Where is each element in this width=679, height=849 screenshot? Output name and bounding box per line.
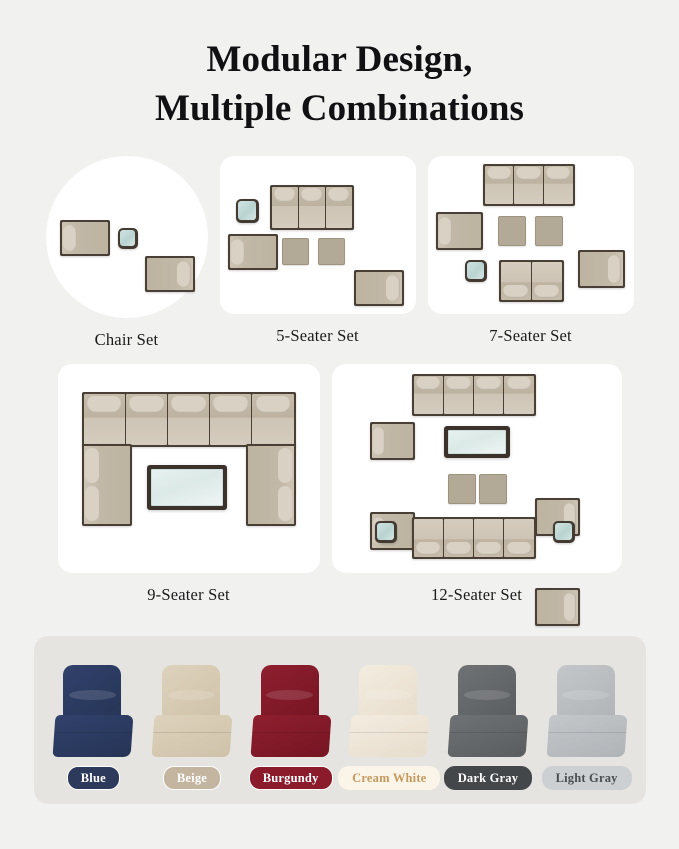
config-label: 9-Seater Set [147,585,230,605]
cushion-seat [152,715,233,757]
cushion-seat [250,715,331,757]
cushion-seat [53,715,134,757]
coffee-table-icon [147,465,227,510]
cushion-illustration [252,665,330,757]
cushion-back [261,665,319,721]
color-label-dark-gray: Dark Gray [444,766,532,790]
12-seater-set-diagram [332,364,622,573]
color-label-burgundy: Burgundy [249,766,333,790]
chair-icon [60,220,110,256]
sectional-left-icon [82,444,132,526]
5-seater-set-diagram [220,156,416,314]
color-option-dark-gray[interactable]: Dark Gray [440,665,536,790]
cushion-back [458,665,516,721]
color-options-section: Blue Beige Burgundy Cream White [34,636,646,804]
cushion-seat [447,715,528,757]
config-card-12-seater-set[interactable]: 12-Seater Set [332,364,622,605]
config-label: 5-Seater Set [276,326,359,346]
cushion-back [557,665,615,721]
config-label: 7-Seater Set [489,326,572,346]
config-card-9-seater-set[interactable]: 9-Seater Set [58,364,320,605]
chair-icon [370,422,415,460]
sectional-right-icon [246,444,296,526]
title-line-1: Modular Design, [206,39,472,80]
page-title: Modular Design, Multiple Combinations [0,0,679,134]
side-table-icon [375,521,397,543]
sectional-top-icon [82,392,296,447]
ottoman-icon [448,474,476,504]
9-seater-set-diagram [58,364,320,573]
coffee-table-icon [444,426,510,458]
cushion-seat [349,715,430,757]
cushion-back [63,665,121,721]
cushion-illustration [548,665,626,757]
chair-icon [535,588,580,626]
color-option-light-gray[interactable]: Light Gray [539,665,635,790]
chair-icon [436,212,483,250]
config-card-chair-set[interactable]: Chair Set [46,156,208,350]
color-label-cream-white: Cream White [338,766,440,790]
cushion-back [162,665,220,721]
title-line-2: Multiple Combinations [0,85,679,134]
cushion-illustration [350,665,428,757]
color-label-light-gray: Light Gray [542,766,632,790]
cushion-illustration [153,665,231,757]
config-label: Chair Set [95,330,159,350]
chair-icon [578,250,625,288]
sofa-4-seat-icon [412,517,536,559]
config-card-5-seater-set[interactable]: 5-Seater Set [220,156,416,346]
sofa-4-seat-icon [412,374,536,416]
side-table-icon [236,199,259,223]
cushion-illustration [54,665,132,757]
ottoman-icon [479,474,507,504]
chair-set-diagram [46,156,208,318]
side-table-icon [465,260,487,282]
chair-icon [145,256,195,292]
color-option-beige[interactable]: Beige [144,665,240,790]
config-card-7-seater-set[interactable]: 7-Seater Set [428,156,634,346]
ottoman-icon [282,238,309,265]
color-label-blue: Blue [67,766,120,790]
configuration-row-bottom: 9-Seater Set [0,364,679,605]
side-table-icon [118,228,138,249]
sofa-3-seat-icon [270,185,354,230]
cushion-illustration [449,665,527,757]
color-label-beige: Beige [163,766,221,790]
config-label: 12-Seater Set [431,585,522,605]
sofa-2-seat-icon [499,260,564,302]
color-option-cream-white[interactable]: Cream White [341,665,437,790]
cushion-seat [546,715,627,757]
ottoman-icon [318,238,345,265]
side-table-icon [553,521,575,543]
sofa-3-seat-icon [483,164,575,206]
infographic-page: Modular Design, Multiple Combinations Ch… [0,0,679,849]
color-option-blue[interactable]: Blue [45,665,141,790]
color-option-burgundy[interactable]: Burgundy [243,665,339,790]
ottoman-icon [535,216,563,246]
7-seater-set-diagram [428,156,634,314]
chair-icon [354,270,404,306]
cushion-back [359,665,417,721]
chair-icon [228,234,278,270]
ottoman-icon [498,216,526,246]
configuration-row-top: Chair Set 5-Seater Set [0,156,679,350]
